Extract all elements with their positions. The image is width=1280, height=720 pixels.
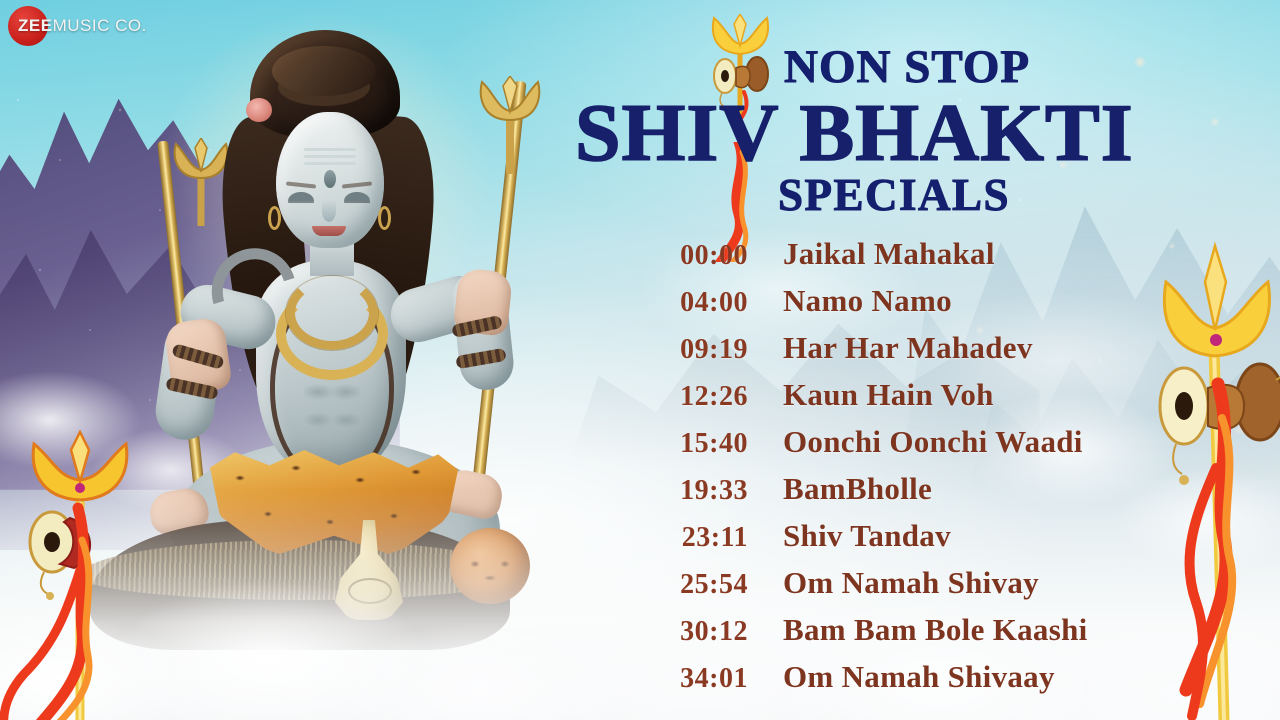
track-time: 25:54 <box>640 569 748 601</box>
track-row[interactable]: 04:00 Namo Namo <box>640 283 1240 330</box>
track-time: 04:00 <box>640 287 748 319</box>
gold-necklace-inner <box>286 276 378 350</box>
track-row[interactable]: 34:01 Om Namah Shivaay <box>640 659 1240 706</box>
track-row[interactable]: 23:11 Shiv Tandav <box>640 518 1240 565</box>
zee-logo-text: ZEEMUSIC CO. <box>18 16 147 36</box>
track-row[interactable]: 19:33 BamBholle <box>640 471 1240 518</box>
track-time: 30:12 <box>640 616 748 648</box>
track-row[interactable]: 00:00 Jaikal Mahakal <box>640 236 1240 283</box>
track-title: Kaun Hain Voh <box>783 377 994 413</box>
zee-logo-normal: MUSIC CO. <box>53 16 147 35</box>
track-title: Namo Namo <box>783 283 952 319</box>
decorative-trident-left <box>0 430 164 720</box>
third-eye <box>324 170 336 188</box>
track-title: Om Namah Shivaay <box>783 659 1055 695</box>
nose <box>322 200 336 222</box>
title-trident-prongs <box>713 14 768 54</box>
track-row[interactable]: 30:12 Bam Bam Bole Kaashi <box>640 612 1240 659</box>
track-title: Bam Bam Bole Kaashi <box>783 612 1088 648</box>
trident-prongs-left <box>33 432 127 500</box>
title-line-specials: SPECIALS <box>778 169 1010 221</box>
earring-left <box>268 206 281 230</box>
zee-music-logo[interactable]: ZEEMUSIC CO. <box>8 6 147 46</box>
track-title: Oonchi Oonchi Waadi <box>783 424 1083 460</box>
tilak-marks <box>304 148 356 151</box>
earring-right <box>378 206 391 230</box>
track-time: 15:40 <box>640 428 748 460</box>
title-block: NON STOP SHIV BHAKTI SPECIALS <box>560 14 1260 224</box>
track-title: Har Har Mahadev <box>783 330 1033 366</box>
track-time: 23:11 <box>640 522 748 554</box>
shiva-right-trident-head <box>460 76 560 176</box>
track-row[interactable]: 25:54 Om Namah Shivay <box>640 565 1240 612</box>
track-title: Jaikal Mahakal <box>783 236 995 272</box>
track-title: BamBholle <box>783 471 932 507</box>
tracklist: 00:00 Jaikal Mahakal 04:00 Namo Namo 09:… <box>640 236 1240 706</box>
carved-skull <box>450 528 530 604</box>
track-row[interactable]: 15:40 Oonchi Oonchi Waadi <box>640 424 1240 471</box>
track-time: 00:00 <box>640 240 748 272</box>
zee-logo-bold: ZEE <box>18 16 53 35</box>
track-time: 19:33 <box>640 475 748 507</box>
mouth <box>312 226 346 236</box>
track-title: Shiv Tandav <box>783 518 951 554</box>
track-time: 09:19 <box>640 334 748 366</box>
track-row[interactable]: 12:26 Kaun Hain Voh <box>640 377 1240 424</box>
kamandal-engraving <box>348 578 392 604</box>
video-thumbnail: ZEEMUSIC CO. NON STOP SHIV BH <box>0 0 1280 720</box>
track-time: 34:01 <box>640 663 748 695</box>
track-row[interactable]: 09:19 Har Har Mahadev <box>640 330 1240 377</box>
hair-flower <box>246 98 272 122</box>
track-time: 12:26 <box>640 381 748 413</box>
track-title: Om Namah Shivay <box>783 565 1039 601</box>
title-line-main: SHIV BHAKTI <box>575 86 1134 180</box>
